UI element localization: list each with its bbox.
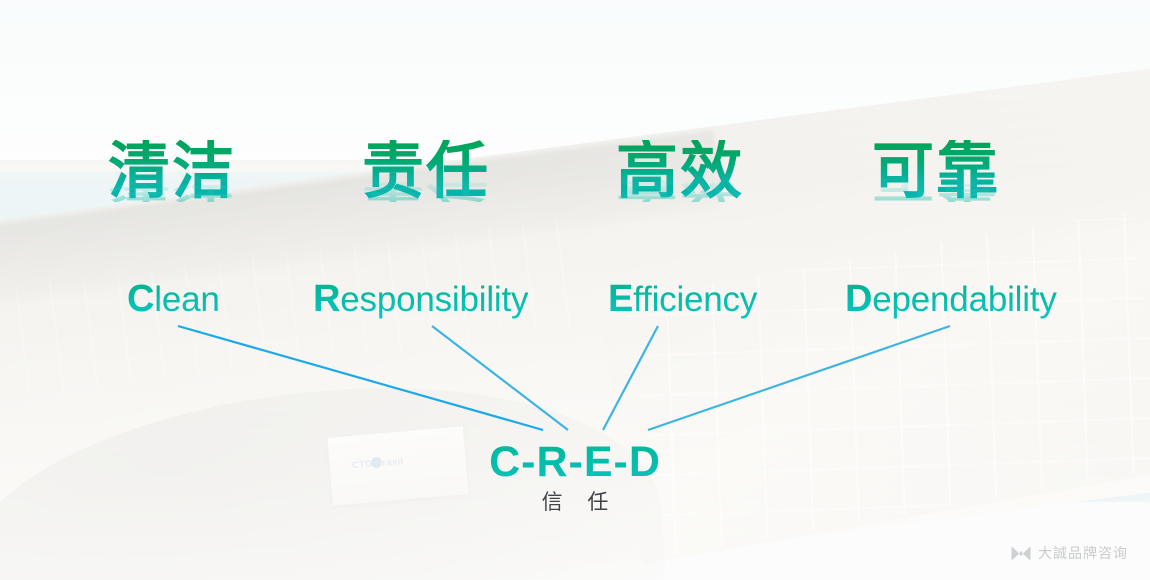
chinese-keyword-efficiency-reflection: 高效 <box>616 164 744 202</box>
connector-line-dependability <box>648 326 950 430</box>
value-word-efficiency: Efficiency <box>608 278 757 321</box>
chinese-keyword-dependability-reflection: 可靠 <box>872 164 1000 202</box>
value-word-dependability: Dependability <box>845 278 1057 321</box>
connector-line-responsibility <box>432 326 568 430</box>
value-word-clean: Clean <box>127 278 220 321</box>
chinese-keyword-clean-reflection: 清洁 <box>108 164 236 202</box>
connector-line-clean <box>178 326 543 430</box>
chinese-keyword-responsibility-reflection: 责任 <box>362 164 490 202</box>
brand-footer: 大誠品牌咨询 <box>1011 543 1128 563</box>
value-word-responsibility-rest: esponsibility <box>340 280 528 319</box>
value-word-efficiency-rest: fficiency <box>633 280 757 319</box>
value-word-clean-initial: C <box>127 278 154 320</box>
slide-canvas: CTG Brasil 清洁 清洁 责任 责任 高效 高效 可靠 可靠 Clean… <box>0 0 1150 580</box>
acronym-cred: C-R-E-D <box>0 438 1150 487</box>
chinese-keyword-row: 清洁 清洁 责任 责任 高效 高效 可靠 可靠 <box>0 140 1150 270</box>
value-word-responsibility: Responsibility <box>313 278 528 321</box>
value-word-responsibility-initial: R <box>313 278 340 320</box>
value-word-dependability-rest: ependability <box>872 280 1056 319</box>
bowtie-logo-icon <box>1011 545 1031 562</box>
value-word-dependability-initial: D <box>845 278 872 320</box>
value-word-clean-rest: lean <box>154 280 219 319</box>
brand-name: 大誠品牌咨询 <box>1038 543 1128 563</box>
acronym-chinese-label: 信 任 <box>0 486 1150 516</box>
connector-line-efficiency <box>603 326 658 430</box>
value-word-efficiency-initial: E <box>608 278 633 320</box>
slide-content: 清洁 清洁 责任 责任 高效 高效 可靠 可靠 Clean Responsibi… <box>0 0 1150 580</box>
